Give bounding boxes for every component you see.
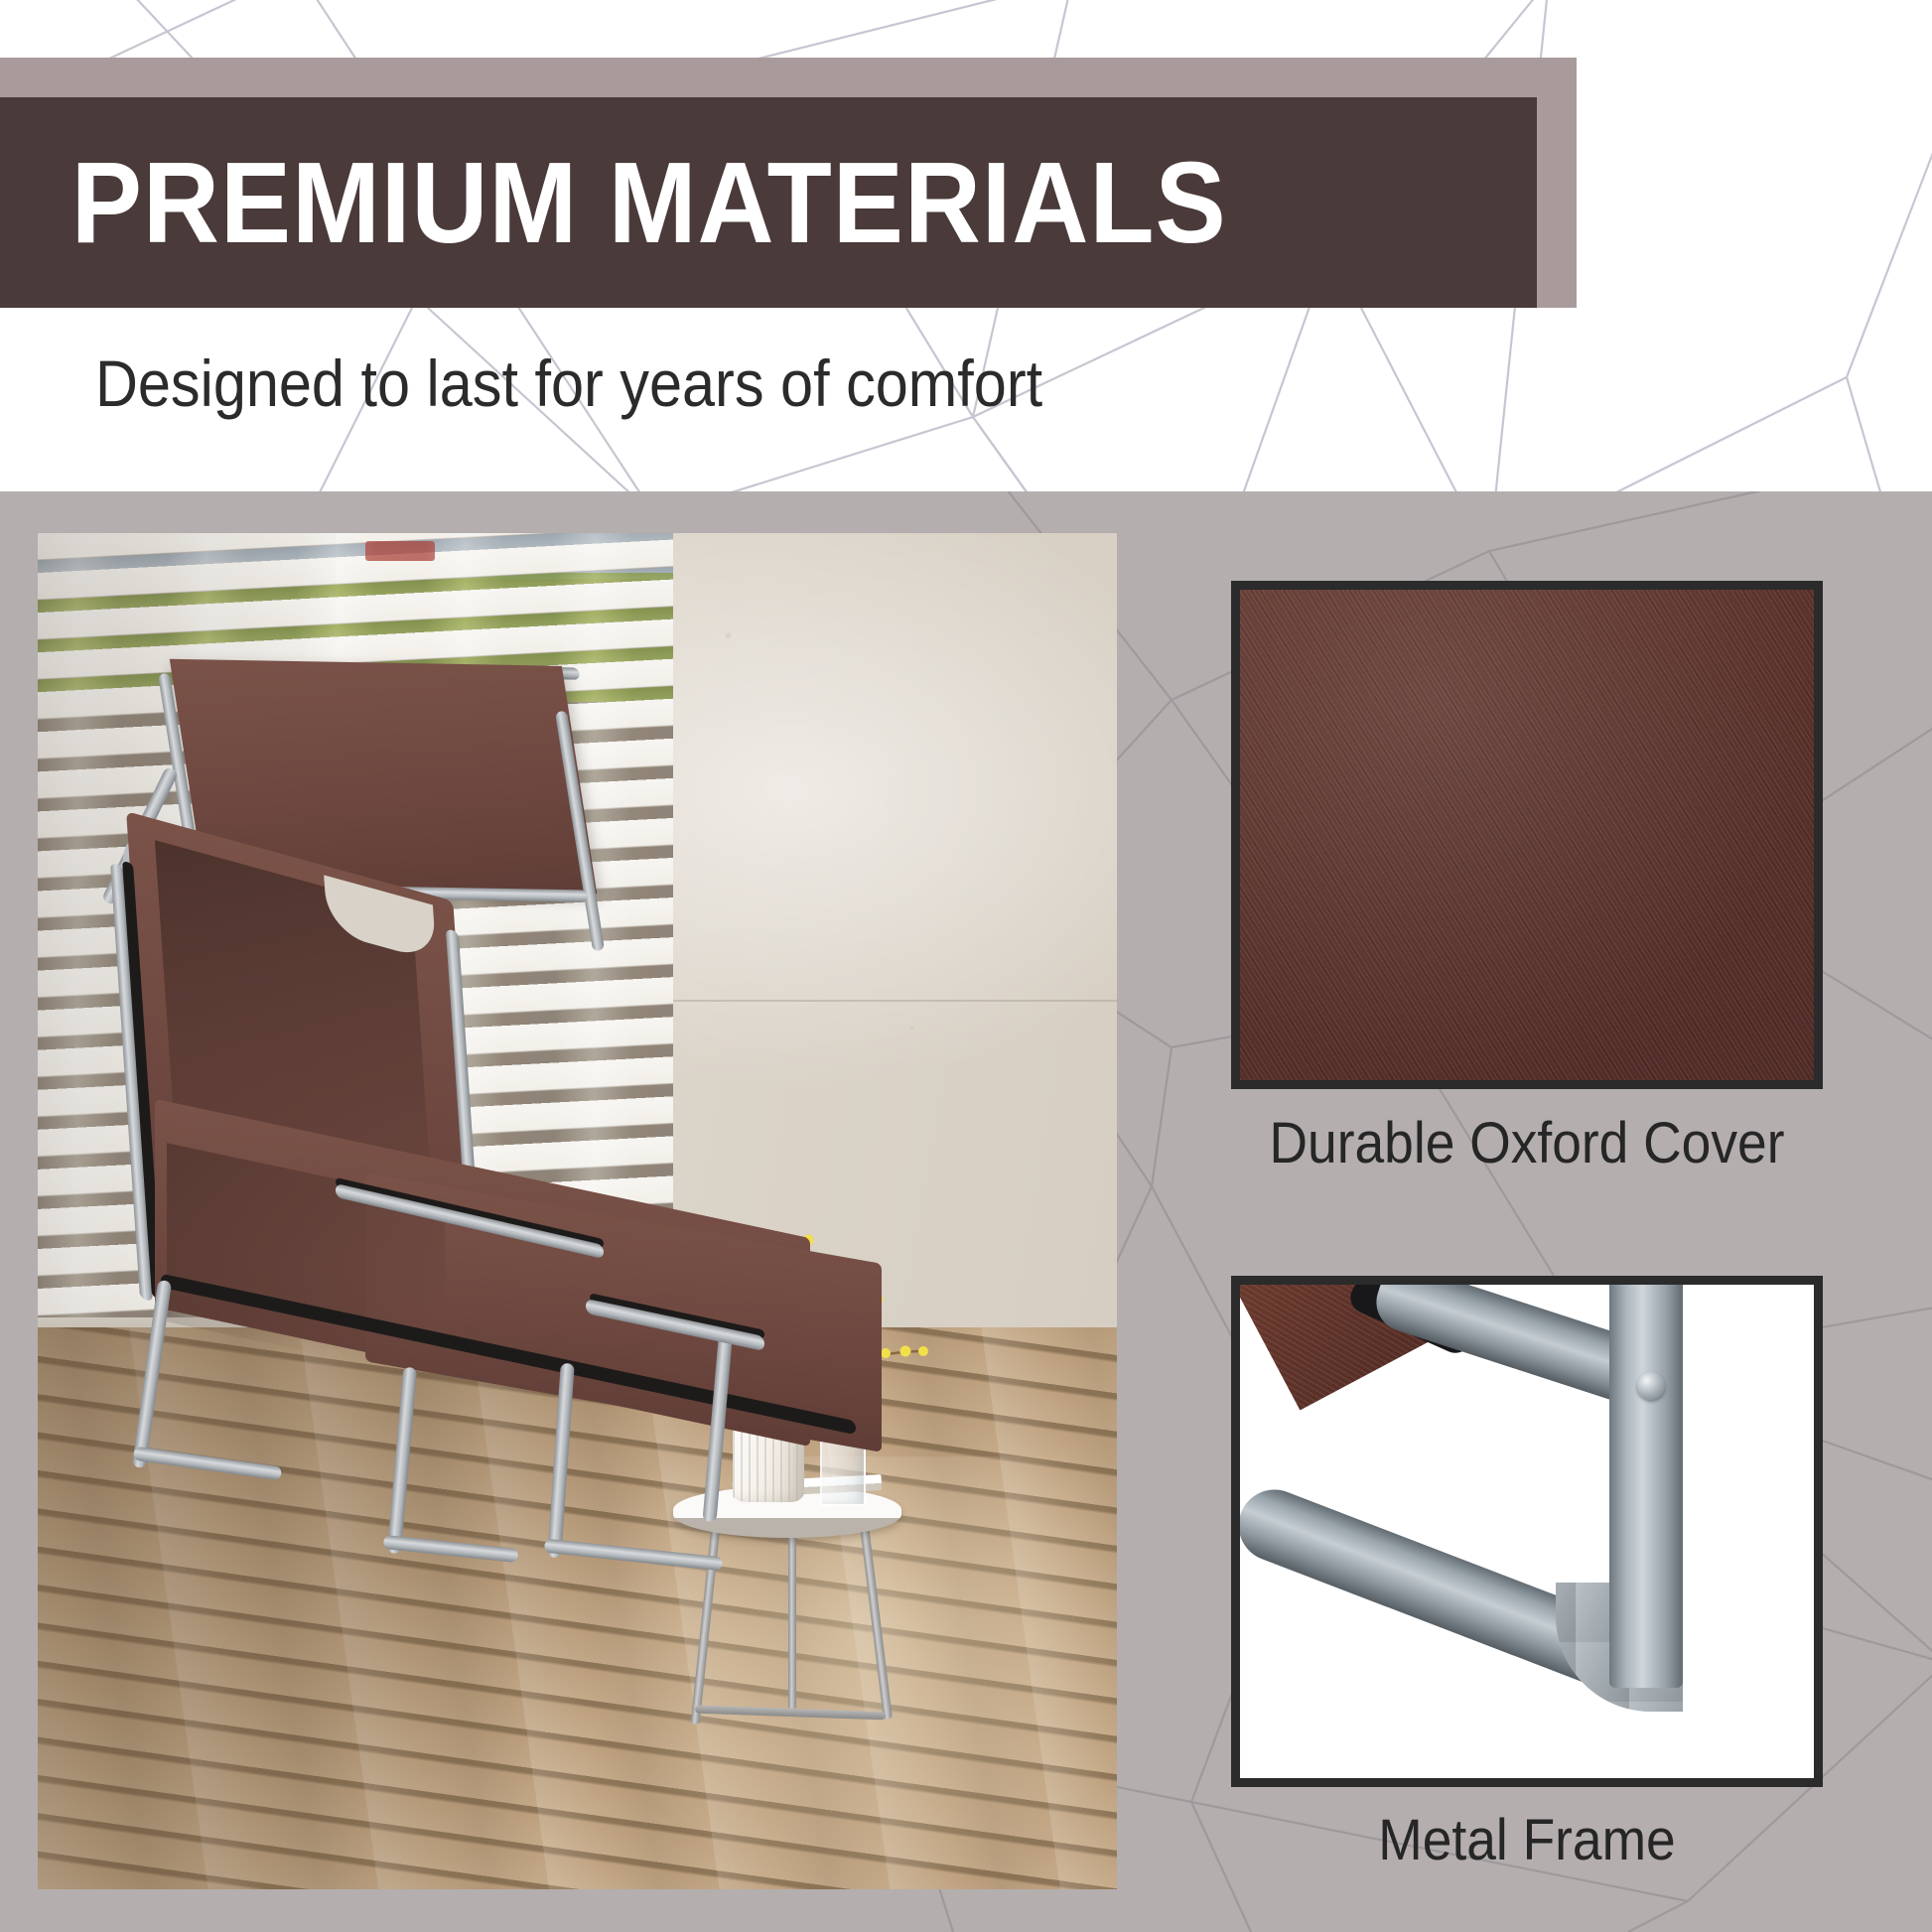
lounger-leg [387, 1367, 417, 1555]
fabric-sheen [1240, 590, 1823, 1089]
sun-lounger [38, 533, 1117, 1889]
page-subtitle: Designed to last for years of comfort [95, 345, 1042, 421]
lounger-foot-bar [133, 1447, 282, 1481]
metal-frame-caption: Metal Frame [1255, 1807, 1799, 1873]
closeup-rivet [1637, 1372, 1665, 1400]
metal-frame-swatch-card [1231, 1276, 1823, 1787]
lounger-foot-bar [544, 1539, 723, 1572]
title-bar: PREMIUM MATERIALS [0, 97, 1537, 308]
fabric-swatch-card [1231, 581, 1823, 1089]
page-title: PREMIUM MATERIALS [0, 145, 1227, 260]
fabric-caption: Durable Oxford Cover [1255, 1110, 1799, 1176]
closeup-vertical-tube [1609, 1276, 1683, 1688]
header: PREMIUM MATERIALS Designed to last for y… [0, 0, 1932, 491]
lounger-leg [132, 1280, 172, 1468]
main-product-photo [38, 533, 1117, 1889]
lounger-foot-bar [383, 1535, 519, 1563]
